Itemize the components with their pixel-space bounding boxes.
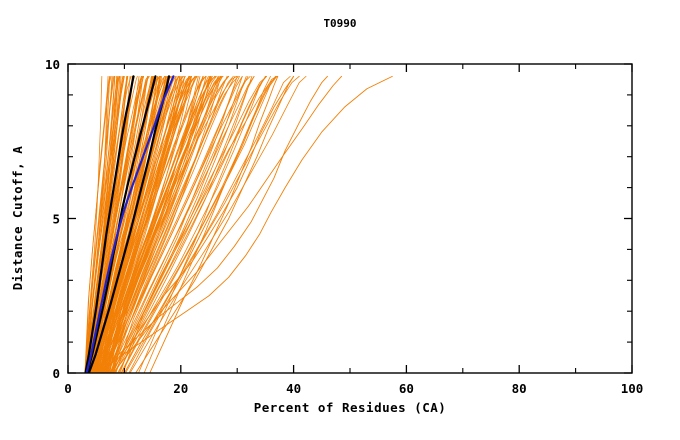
distance-cutoff-plot: T0990 0204060801000510 Percent of Residu… (0, 0, 680, 440)
x-tick-label: 20 (173, 381, 188, 396)
page-title: T0990 (323, 17, 356, 30)
x-tick-label: 80 (512, 381, 527, 396)
plot-root: T0990 0204060801000510 Percent of Residu… (0, 0, 680, 440)
y-tick-label: 0 (52, 366, 60, 381)
y-axis-label: Distance Cutoff, A (10, 146, 25, 290)
y-tick-label: 5 (52, 212, 60, 227)
x-tick-label: 0 (64, 381, 72, 396)
x-axis-label: Percent of Residues (CA) (254, 400, 447, 415)
y-tick-label: 10 (45, 57, 60, 72)
x-tick-label: 100 (621, 381, 644, 396)
x-tick-label: 40 (286, 381, 301, 396)
x-tick-label: 60 (399, 381, 414, 396)
